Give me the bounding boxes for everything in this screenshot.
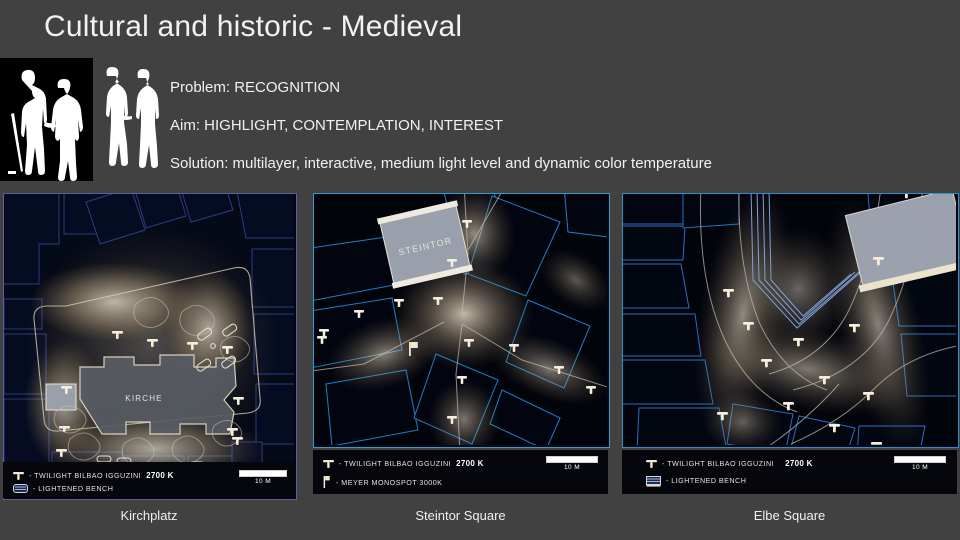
scale-bar-line	[894, 456, 946, 463]
bullet-aim: Aim: HIGHLIGHT, CONTEMPLATION, INTEREST	[170, 118, 930, 133]
lamp-icon	[323, 458, 334, 469]
map-canvas-steintor: STEINTOR	[314, 194, 609, 447]
map-panel-steintor[interactable]: STEINTOR	[313, 193, 610, 448]
legend-row-bench: - LIGHTENED BENCH	[646, 476, 746, 485]
elderly-couple-silhouette	[0, 58, 93, 181]
legend-label: - LIGHTENED BENCH	[666, 476, 746, 485]
legend-elbe: - TWILIGHT BILBAO IGGUZINI 2700 K - LIGH…	[622, 450, 957, 494]
legend-label: - TWILIGHT BILBAO IGGUZINI	[662, 459, 774, 468]
legend-label: - LIGHTENED BENCH	[33, 484, 113, 493]
legend-steintor: - TWILIGHT BILBAO IGGUZINI 2700 K - MEYE…	[313, 450, 608, 494]
bench-icon	[13, 484, 28, 493]
lamp-icon	[13, 470, 24, 481]
legend-row-lamp: - TWILIGHT BILBAO IGGUZINI 2700 K	[13, 470, 174, 481]
scale-bar-label: 10 M	[546, 464, 598, 471]
legend-temperature: 2700 K	[785, 459, 813, 468]
caption-elbe: Elbe Square	[622, 508, 957, 523]
map-panel-elbe[interactable]	[622, 193, 959, 448]
legend-temperature: 2700 K	[146, 471, 174, 480]
scale-bar-label: 10 M	[239, 478, 287, 485]
scale-bar-line	[546, 456, 598, 463]
legend-row-lamp: - TWILIGHT BILBAO IGGUZINI 2700 K	[323, 458, 484, 469]
bench-icon	[646, 476, 661, 485]
legend-kirchplatz: - TWILIGHT BILBAO IGGUZINI 2700 K - LIGH…	[3, 462, 295, 498]
caption-steintor: Steintor Square	[313, 508, 608, 523]
lamp-icon	[646, 458, 657, 469]
legend-label: - TWILIGHT BILBAO IGGUZINI	[339, 459, 451, 468]
scale-bar: 10 M	[546, 456, 598, 471]
legend-row-lamp: - TWILIGHT BILBAO IGGUZINI 2700 K	[646, 458, 813, 469]
bullet-solution: Solution: multilayer, interactive, mediu…	[170, 156, 930, 171]
young-couple-silhouette	[93, 58, 160, 181]
legend-label: - MEYER MONOSPOT 3000K	[336, 478, 442, 487]
slide-root: Cultural and historic - Medieval	[0, 0, 960, 540]
legend-temperature: 2700 K	[456, 459, 484, 468]
page-title: Cultural and historic - Medieval	[44, 10, 462, 44]
legend-row-bench: - LIGHTENED BENCH	[13, 484, 113, 493]
caption-kirchplatz: Kirchplatz	[3, 508, 295, 523]
scale-bar-line	[239, 470, 287, 477]
bullet-problem: Problem: RECOGNITION	[170, 80, 930, 95]
map-panel-kirchplatz[interactable]: KIRCHE	[3, 193, 297, 500]
legend-row-monospot: - MEYER MONOSPOT 3000K	[323, 476, 442, 488]
monospot-icon	[323, 476, 331, 488]
map-canvas-kirchplatz: KIRCHE	[4, 194, 296, 499]
legend-label: - TWILIGHT BILBAO IGGUZINI	[29, 471, 141, 480]
map-canvas-elbe	[623, 194, 958, 447]
map-label-kirche: KIRCHE	[125, 394, 162, 403]
scale-bar-label: 10 M	[894, 464, 946, 471]
scale-bar: 10 M	[894, 456, 946, 471]
bullet-list: Problem: RECOGNITION Aim: HIGHLIGHT, CON…	[170, 80, 930, 171]
scale-bar: 10 M	[239, 470, 287, 485]
